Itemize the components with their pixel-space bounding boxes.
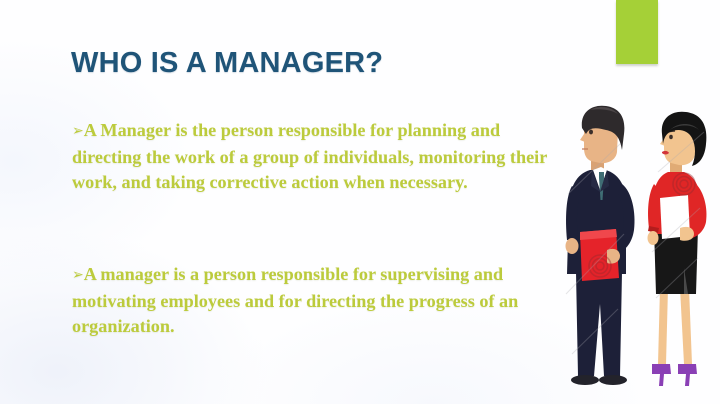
two-business-people-illustration xyxy=(560,104,720,404)
bullet-paragraph: ➢A Manager is the person responsible for… xyxy=(72,118,552,196)
green-accent-rectangle xyxy=(616,0,658,64)
arrowhead-bullet-icon: ➢ xyxy=(72,123,84,139)
bullet-paragraph-text: A Manager is the person responsible for … xyxy=(72,120,547,192)
bullet-paragraph-text: A manager is a person responsible for su… xyxy=(72,264,518,336)
bullet-paragraph: ➢A manager is a person responsible for s… xyxy=(72,262,552,340)
page-title: WHO IS A MANAGER? xyxy=(71,47,383,80)
arrowhead-bullet-icon: ➢ xyxy=(72,267,84,283)
bullet-block-2: ➢A manager is a person responsible for s… xyxy=(72,262,552,340)
bullet-block-1: ➢A Manager is the person responsible for… xyxy=(72,118,552,196)
slide-canvas: WHO IS A MANAGER? ➢A Manager is the pers… xyxy=(0,0,720,404)
businessman-figure xyxy=(566,106,635,385)
businesswoman-figure xyxy=(648,112,707,386)
